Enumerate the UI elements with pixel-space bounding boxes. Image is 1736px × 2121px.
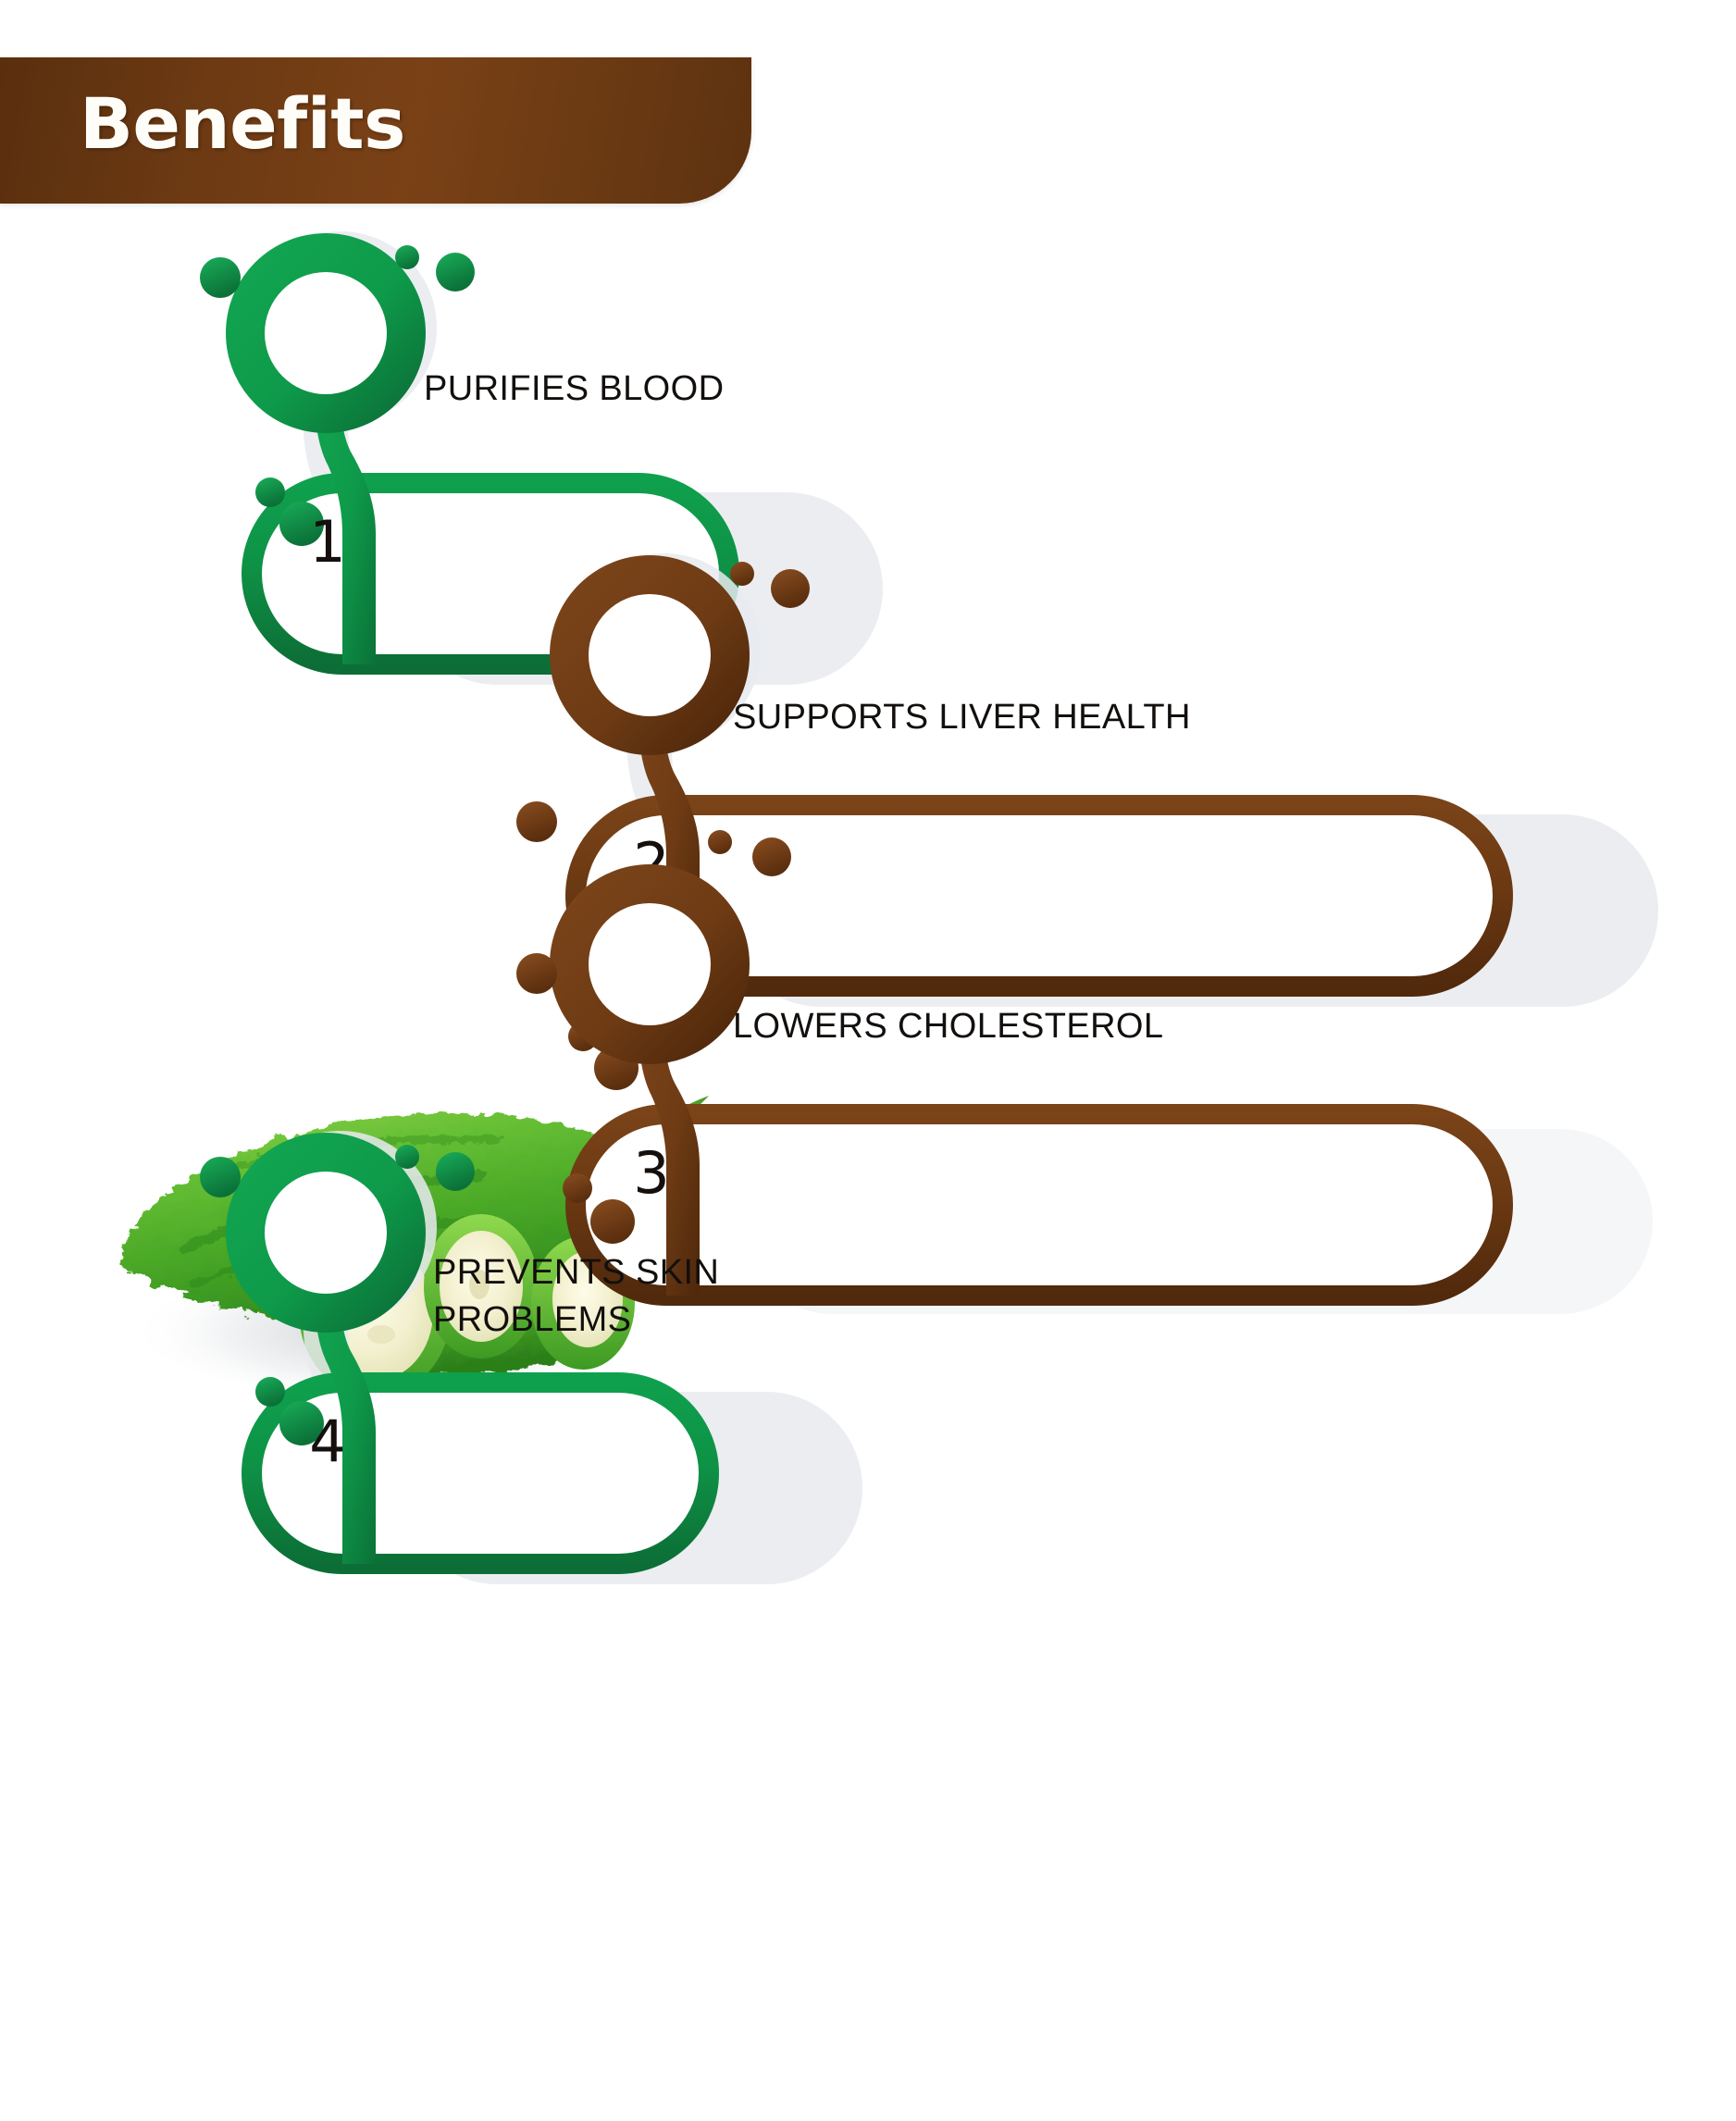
badge-3-dot-a xyxy=(516,953,557,994)
benefit-item-3[interactable]: 3 LOWERS CHOLESTEROL xyxy=(527,862,1619,1168)
badge-2-pin-center xyxy=(589,594,711,716)
badge-4-number: 4 xyxy=(300,1413,355,1470)
badge-2-dot-a xyxy=(516,801,557,842)
badge-4-dot-d xyxy=(255,1377,285,1407)
badge-1-dot-a xyxy=(200,257,241,298)
badge-4-pin-center xyxy=(265,1172,387,1294)
badge-4-dot-a xyxy=(200,1157,241,1197)
benefit-item-2[interactable]: 2 SUPPORTS LIVER HEALTH xyxy=(527,553,1619,859)
badge-1-number: 1 xyxy=(300,514,355,571)
infographic-canvas: Benefits xyxy=(0,0,1736,2121)
badge-3-pin-center xyxy=(589,903,711,1025)
badge-1-dot-b xyxy=(395,245,419,269)
badge-4-label: PREVENTS SKIN PROBLEMS xyxy=(433,1249,719,1344)
badge-2-dot-c xyxy=(771,569,810,608)
badge-4-dot-c xyxy=(436,1152,475,1191)
badge-1-label: PURIFIES BLOOD xyxy=(424,366,724,413)
badge-1-pin-center xyxy=(265,272,387,394)
badge-3-dot-b xyxy=(708,830,732,854)
badge-3-label: LOWERS CHOLESTEROL xyxy=(733,1003,1163,1050)
badge-1-dot-d xyxy=(255,478,285,507)
badge-2-label: SUPPORTS LIVER HEALTH xyxy=(733,694,1191,741)
benefit-item-4[interactable]: 4 PREVENTS SKIN PROBLEMS xyxy=(204,1131,851,1436)
badge-2-dot-b xyxy=(730,562,754,586)
badge-1-dot-c xyxy=(436,253,475,291)
page-title: Benefits xyxy=(80,89,405,159)
badge-3-dot-c xyxy=(752,837,791,876)
benefit-item-1[interactable]: 1 PURIFIES BLOOD xyxy=(204,231,851,537)
badge-4-dot-b xyxy=(395,1145,419,1169)
